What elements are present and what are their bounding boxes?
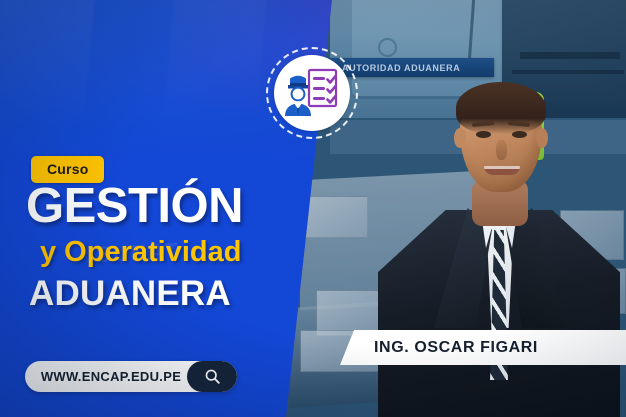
presenter-hair <box>456 82 546 134</box>
customs-officer-checklist-icon <box>274 55 350 131</box>
machine-dial <box>378 38 397 57</box>
search-button[interactable] <box>187 361 237 392</box>
course-title-block: GESTIÓN y Operatividad ADUANERA <box>26 182 304 311</box>
search-icon <box>204 368 221 385</box>
title-line-aduanera: ADUANERA <box>29 276 304 311</box>
website-url-text: WWW.ENCAP.EDU.PE <box>25 369 187 384</box>
presenter-mouth <box>484 166 520 175</box>
course-emblem <box>266 47 358 139</box>
speaker-name-banner: ING. OSCAR FIGARI <box>340 330 626 365</box>
title-line-gestion: GESTIÓN <box>26 182 304 231</box>
presenter-ear-right <box>536 128 548 148</box>
speaker-name-text: ING. OSCAR FIGARI <box>340 339 538 357</box>
presenter-ear-left <box>454 128 466 148</box>
presenter-eye-left <box>476 131 491 138</box>
course-promo-banner: AUTORIDAD ADUANERA S <box>0 0 626 417</box>
presenter-eye-right <box>512 131 527 138</box>
title-line-operatividad: y Operatividad <box>40 238 304 267</box>
website-url-bar[interactable]: WWW.ENCAP.EDU.PE <box>25 361 237 392</box>
presenter-nose <box>496 140 507 160</box>
